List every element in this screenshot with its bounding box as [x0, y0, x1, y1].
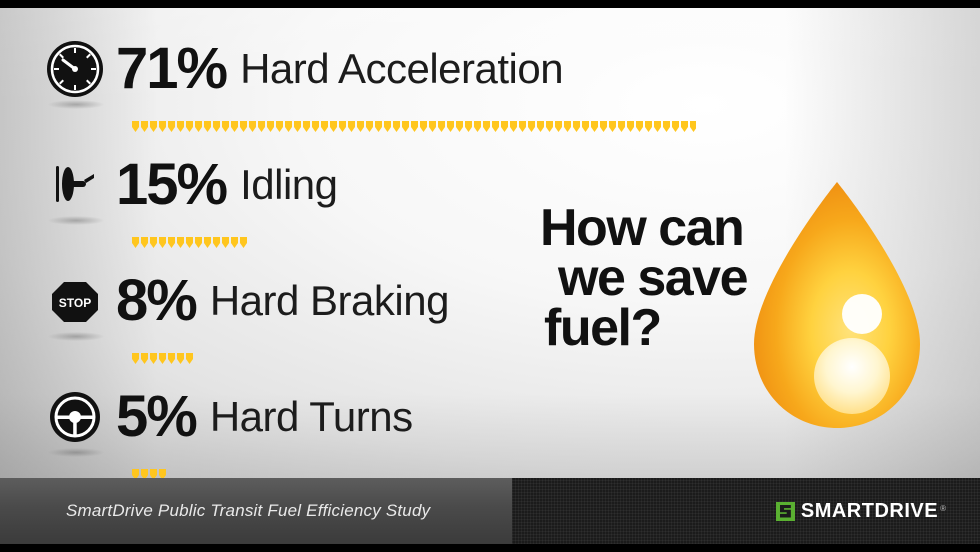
bar-tick	[276, 121, 283, 132]
bar-tick	[150, 237, 157, 248]
icon-shadow	[48, 216, 104, 225]
headline: How can we save fuel?	[540, 204, 800, 354]
bar-tick	[186, 353, 193, 364]
bar-tick	[474, 121, 481, 132]
bar-tick	[465, 121, 472, 132]
stat-row: 71% Hard Acceleration	[44, 28, 604, 144]
stat-percent: 5%	[116, 388, 196, 446]
bar-tick	[600, 121, 607, 132]
bar-tick	[267, 121, 274, 132]
bar-tick	[447, 121, 454, 132]
stat-row: 5% Hard Turns	[44, 376, 604, 492]
bar-tick	[528, 121, 535, 132]
bar-tick	[249, 121, 256, 132]
bar-tick	[618, 121, 625, 132]
icon-shadow	[48, 448, 104, 457]
bar-tick	[186, 237, 193, 248]
bar-tick	[168, 353, 175, 364]
bar-tick	[510, 121, 517, 132]
stat-percent: 71%	[116, 40, 226, 98]
bar-tick	[627, 121, 634, 132]
bar-tick	[177, 121, 184, 132]
smartdrive-mark-icon	[776, 502, 795, 521]
bar-tick	[591, 121, 598, 132]
fuel-pump-icon	[44, 154, 106, 216]
bar-tick	[690, 121, 696, 132]
bar-tick	[159, 237, 166, 248]
stat-row: STOP 8% Hard Braking	[44, 260, 604, 376]
bar-tick	[609, 121, 616, 132]
logo-trademark: ®	[940, 504, 946, 513]
footer-caption: SmartDrive Public Transit Fuel Efficienc…	[66, 501, 430, 521]
bar-tick	[159, 353, 166, 364]
headline-line-3: fuel?	[540, 304, 800, 354]
bar-tick	[501, 121, 508, 132]
slide-canvas: 71% Hard Acceleration	[0, 8, 980, 544]
letterbox-top	[0, 0, 980, 8]
bar-tick	[186, 121, 193, 132]
bar-tick	[438, 121, 445, 132]
bar-tick	[177, 237, 184, 248]
bar-tick	[582, 121, 589, 132]
bar-tick	[645, 121, 652, 132]
bar-tick	[555, 121, 562, 132]
bar-tick	[141, 353, 148, 364]
bar-tick	[150, 121, 157, 132]
stop-sign-icon: STOP	[44, 270, 106, 332]
bar-tick	[213, 121, 220, 132]
bar-tick	[339, 121, 346, 132]
bar-tick	[420, 121, 427, 132]
bar-tick	[393, 121, 400, 132]
bar-tick	[375, 121, 382, 132]
bar-tick	[357, 121, 364, 132]
bar-tick	[222, 121, 229, 132]
stat-bar	[132, 121, 696, 132]
bar-tick	[366, 121, 373, 132]
bar-tick	[204, 121, 211, 132]
stat-percent: 15%	[116, 156, 226, 214]
slide-stage: 71% Hard Acceleration	[0, 0, 980, 552]
stat-label: Hard Turns	[210, 396, 413, 438]
logo-text: SMARTDRIVE	[801, 500, 938, 523]
stat-bar	[132, 237, 251, 248]
headline-line-1: How can	[540, 204, 800, 254]
bar-tick	[141, 121, 148, 132]
bar-tick	[663, 121, 670, 132]
bar-tick	[348, 121, 355, 132]
bar-tick	[492, 121, 499, 132]
bar-tick	[132, 237, 139, 248]
bar-tick	[240, 121, 247, 132]
bar-tick	[402, 121, 409, 132]
bar-tick	[672, 121, 679, 132]
bar-tick	[168, 237, 175, 248]
stat-label: Idling	[240, 164, 337, 206]
bar-tick	[654, 121, 661, 132]
bar-tick	[294, 121, 301, 132]
bar-tick	[636, 121, 643, 132]
bar-tick	[240, 237, 247, 248]
icon-shadow	[48, 100, 104, 109]
bar-tick	[132, 121, 139, 132]
bar-tick	[177, 353, 184, 364]
stat-bar	[132, 353, 196, 364]
stat-label: Hard Braking	[210, 280, 449, 322]
bar-tick	[159, 121, 166, 132]
bar-tick	[168, 121, 175, 132]
bar-tick	[231, 237, 238, 248]
gauge-icon	[44, 38, 106, 100]
bar-tick	[573, 121, 580, 132]
bar-tick	[537, 121, 544, 132]
headline-line-2: we save	[540, 254, 800, 304]
bar-tick	[195, 237, 202, 248]
footer-caption-area: SmartDrive Public Transit Fuel Efficienc…	[0, 478, 512, 544]
bar-tick	[429, 121, 436, 132]
svg-text:STOP: STOP	[59, 296, 91, 310]
bar-tick	[213, 237, 220, 248]
footer-logo-area: SMARTDRIVE ®	[512, 478, 980, 544]
stat-row: 15% Idling	[44, 144, 604, 260]
letterbox-bottom	[0, 544, 980, 552]
bar-tick	[564, 121, 571, 132]
bar-tick	[321, 121, 328, 132]
bar-tick	[483, 121, 490, 132]
bar-tick	[546, 121, 553, 132]
bar-tick	[150, 353, 157, 364]
bar-tick	[330, 121, 337, 132]
bar-tick	[141, 237, 148, 248]
stats-list: 71% Hard Acceleration	[44, 28, 604, 492]
steering-wheel-icon	[44, 386, 106, 448]
bar-tick	[456, 121, 463, 132]
bar-tick	[285, 121, 292, 132]
bar-tick	[195, 121, 202, 132]
footer-bar: SmartDrive Public Transit Fuel Efficienc…	[0, 478, 980, 544]
smartdrive-logo: SMARTDRIVE ®	[776, 500, 946, 523]
bar-tick	[303, 121, 310, 132]
bar-tick	[132, 353, 139, 364]
stat-percent: 8%	[116, 272, 196, 330]
stat-label: Hard Acceleration	[240, 48, 563, 90]
bar-tick	[411, 121, 418, 132]
bar-tick	[204, 237, 211, 248]
bar-tick	[231, 121, 238, 132]
icon-shadow	[48, 332, 104, 341]
bar-tick	[312, 121, 319, 132]
bar-tick	[384, 121, 391, 132]
bar-tick	[681, 121, 688, 132]
bar-tick	[519, 121, 526, 132]
bar-tick	[258, 121, 265, 132]
bar-tick	[222, 237, 229, 248]
